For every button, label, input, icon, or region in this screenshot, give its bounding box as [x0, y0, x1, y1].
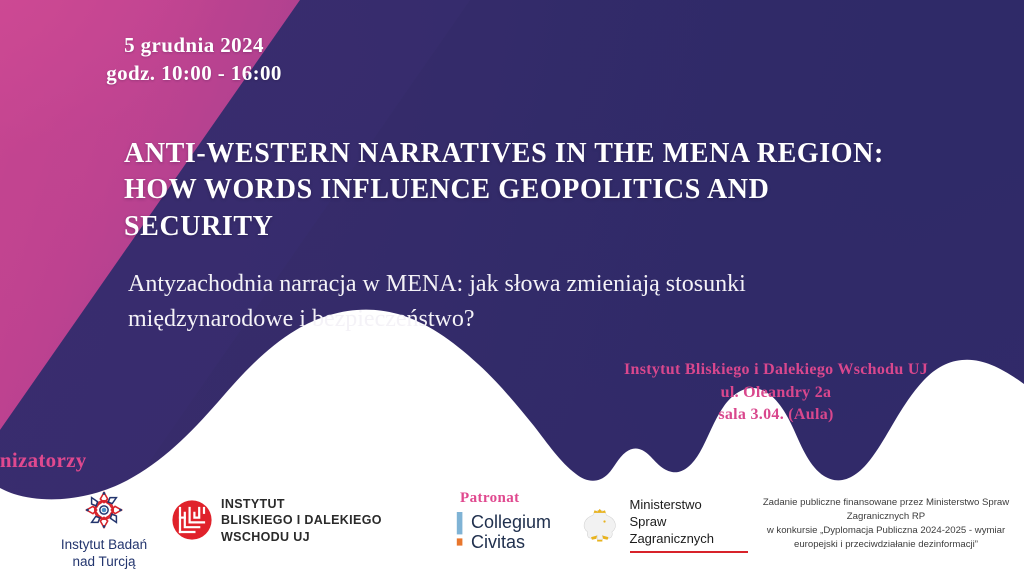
logo-ibdw-caption: INSTYTUT BLISKIEGO I DALEKIEGO WSCHODU U… [221, 496, 382, 545]
logo-ibdw-line-2: BLISKIEGO I DALEKIEGO [221, 512, 382, 528]
logo-ibdw-line-1: INSTYTUT [221, 496, 382, 512]
logo-msz-caption: Ministerstwo Spraw Zagranicznych [630, 497, 754, 548]
funding-line-2: Zagranicznych RP [752, 510, 1020, 524]
title-line-1: ANTI-WESTERN NARRATIVES IN THE MENA REGI… [124, 136, 974, 172]
title-line-2: HOW WORDS INFLUENCE GEOPOLITICS AND [124, 172, 974, 208]
turkish-rosette-icon [81, 487, 127, 533]
logo-msz-red-rule [630, 551, 748, 554]
logo-instytut-bliskiego-i-dalekiego-wschodu: INSTYTUT BLISKIEGO I DALEKIEGO WSCHODU U… [172, 496, 382, 545]
funding-line-4: europejski i przeciwdziałanie dezinforma… [752, 538, 1020, 552]
logo-msz-line-2: Spraw Zagranicznych [630, 514, 754, 548]
title-line-3: SECURITY [124, 209, 974, 245]
event-date-block: 5 grudnia 2024 godz. 10:00 - 16:00 [54, 32, 334, 87]
organizers-label: Organizatorzy [0, 448, 87, 473]
subtitle-line-2: międzynarodowe i bezpieczeństwo? [128, 302, 918, 337]
logo-instytut-badan-nad-turcja: Instytut Badań nad Turcją [34, 487, 174, 571]
logo-ministerstwo-spraw-zagranicznych: Ministerstwo Spraw Zagranicznych [578, 497, 753, 553]
polish-eagle-icon [578, 503, 622, 547]
logo-ibdw-line-3: WSCHODU UJ [221, 529, 382, 545]
funding-note: Zadanie publiczne finansowane przez Mini… [752, 496, 1020, 552]
event-poster: 5 grudnia 2024 godz. 10:00 - 16:00 ANTI-… [0, 0, 1024, 576]
event-date-line: 5 grudnia 2024 [54, 32, 334, 60]
event-time-line: godz. 10:00 - 16:00 [54, 60, 334, 88]
venue-room: sala 3.04. (Aula) [566, 404, 986, 427]
red-seal-maze-icon [172, 500, 212, 540]
page-title: ANTI-WESTERN NARRATIVES IN THE MENA REGI… [124, 136, 974, 245]
venue-block: Instytut Bliskiego i Dalekiego Wschodu U… [566, 359, 986, 427]
logo-ibt-line-1: Instytut Badań [61, 536, 147, 553]
logo-ibt-caption: Instytut Badań nad Turcją [61, 536, 147, 571]
logo-cc-line-2: Civitas [471, 532, 551, 552]
logo-msz-text: Ministerstwo Spraw Zagranicznych [622, 497, 754, 553]
subtitle-line-1: Antyzachodnia narracja w MENA: jak słowa… [128, 267, 918, 302]
funding-line-1: Zadanie publiczne finansowane przez Mini… [752, 496, 1020, 510]
logo-cc-line-1: Collegium [471, 512, 551, 532]
logo-collegium-civitas: Collegium Civitas [456, 512, 566, 552]
funding-line-3: w konkursie „Dyplomacja Publiczna 2024-2… [752, 524, 1020, 538]
patronage-label: Patronat [460, 490, 520, 507]
logo-msz-line-1: Ministerstwo [630, 497, 754, 514]
venue-institution: Instytut Bliskiego i Dalekiego Wschodu U… [566, 359, 986, 382]
subtitle: Antyzachodnia narracja w MENA: jak słowa… [128, 267, 918, 337]
exclamation-mark-icon [456, 512, 464, 552]
venue-street: ul. Oleandry 2a [566, 382, 986, 405]
logo-cc-caption: Collegium Civitas [471, 512, 551, 552]
logo-ibt-line-2: nad Turcją [61, 553, 147, 570]
